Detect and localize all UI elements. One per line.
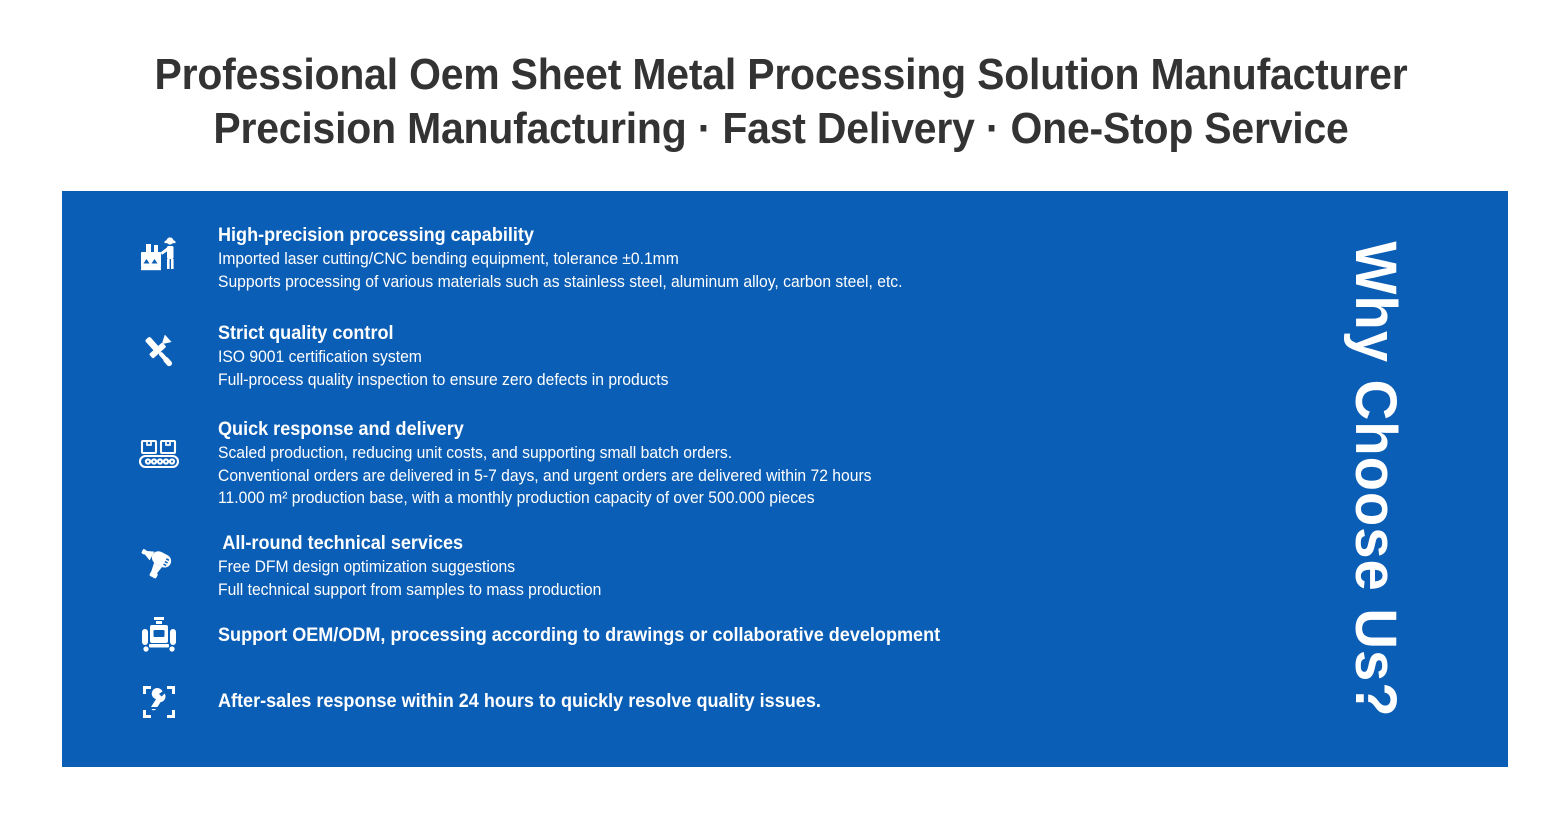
feature-detail-line: Full technical support from samples to m… [218,579,601,602]
feature-item: Strict quality control ISO 9001 certific… [218,321,692,391]
feature-detail-line: Scaled production, reducing unit costs, … [218,442,872,465]
factory-worker-icon [136,231,182,277]
hammer-tool-icon [136,329,182,375]
feature-heading: After-sales response within 24 hours to … [218,689,821,714]
feature-detail-line: Supports processing of various materials… [218,271,903,294]
why-choose-us-text: Why Choose Us? [1346,241,1404,717]
feature-detail-line: 11.000 m² production base, with a monthl… [218,487,872,510]
feature-heading: Quick response and delivery [218,417,872,442]
feature-item: Quick response and delivery Scaled produ… [218,417,906,510]
feature-heading: Support OEM/ODM, processing according to… [218,623,940,648]
feature-item: After-sales response within 24 hours to … [218,689,853,714]
page-title: Professional Oem Sheet Metal Processing … [0,48,1562,156]
page-title-line-2: Precision Manufacturing · Fast Delivery … [55,102,1508,156]
features-panel: High-precision processing capability Imp… [62,191,1508,767]
feature-detail-line: Full-process quality inspection to ensur… [218,369,668,392]
power-drill-icon [136,539,182,585]
feature-detail-line: Imported laser cutting/CNC bending equip… [218,248,903,271]
feature-heading: Strict quality control [218,321,668,346]
why-choose-us-label: Why Choose Us? [1346,191,1404,767]
feature-item: Support OEM/ODM, processing according to… [218,623,978,648]
feature-detail-line: ISO 9001 certification system [218,346,668,369]
press-machine-icon [136,611,182,657]
feature-heading: High-precision processing capability [218,223,903,248]
feature-item: All-round technical services Free DFM de… [218,531,622,601]
feature-detail-line: Conventional orders are delivered in 5-7… [218,465,872,488]
feature-detail-line: Free DFM design optimization suggestions [218,556,601,579]
monitor-wrench-icon [136,679,182,725]
feature-heading: All-round technical services [218,531,601,556]
page-title-line-1: Professional Oem Sheet Metal Processing … [55,48,1508,102]
feature-item: High-precision processing capability Imp… [218,223,939,293]
conveyor-belt-icon [136,431,182,477]
